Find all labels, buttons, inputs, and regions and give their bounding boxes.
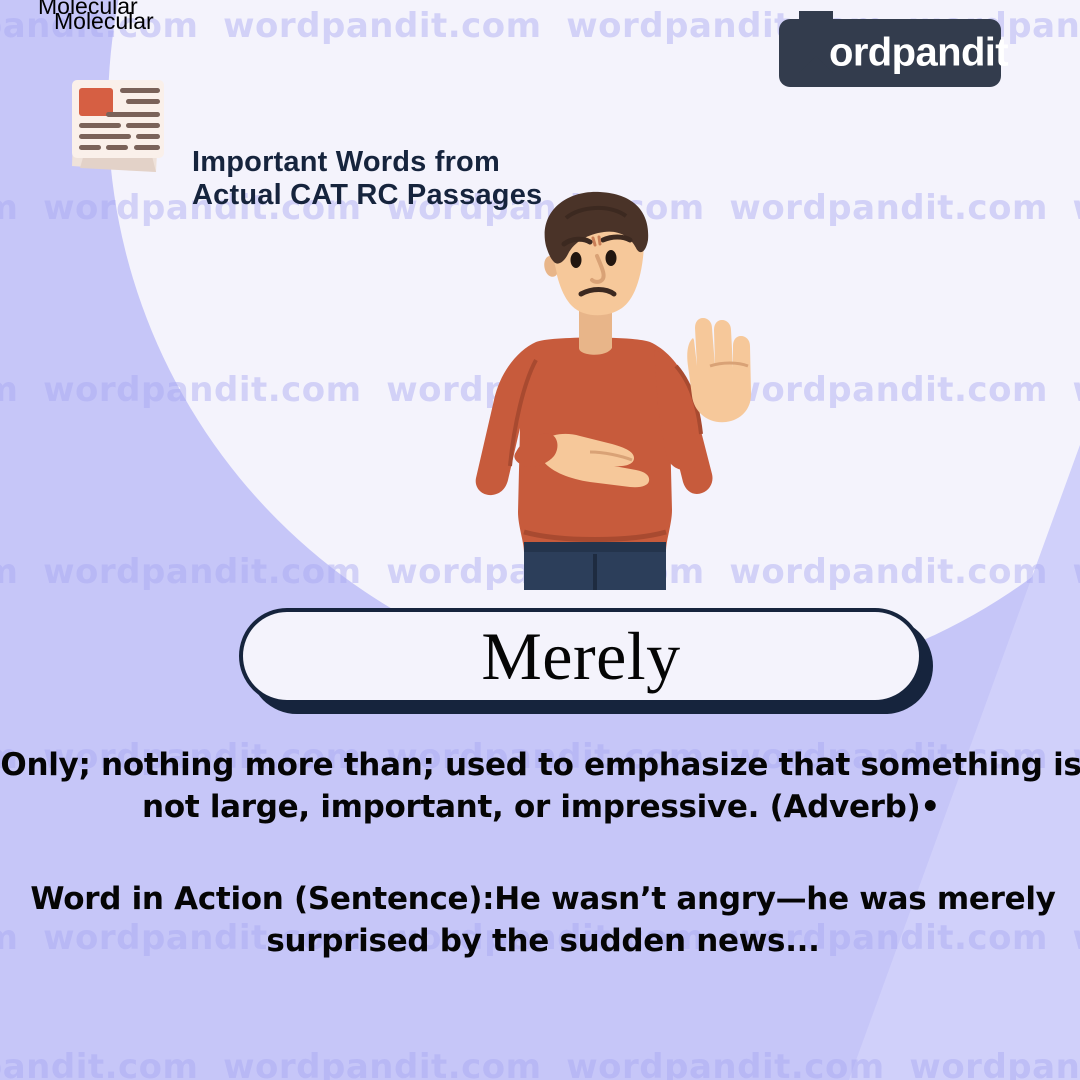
poster-canvas: wordpandit.com wordpandit.com wordpandit… — [0, 0, 1080, 1080]
brand-logo[interactable]: ordpandit — [779, 19, 1001, 87]
newspaper-icon — [56, 68, 178, 176]
vocabulary-word: Merely — [481, 622, 680, 690]
brand-logo-label: ordpandit — [829, 31, 1008, 76]
word-card: Merely — [239, 608, 933, 714]
example-sentence-text: Word in Action (Sentence):He wasn’t angr… — [0, 878, 1080, 962]
definition-text: Only; nothing more than; used to emphasi… — [0, 744, 1080, 828]
word-card-surface: Merely — [239, 608, 923, 704]
man-raising-hand-illustration — [440, 190, 790, 590]
bookmark-w-icon — [799, 11, 833, 73]
stray-label-molecular-2: Molecular — [54, 8, 154, 35]
